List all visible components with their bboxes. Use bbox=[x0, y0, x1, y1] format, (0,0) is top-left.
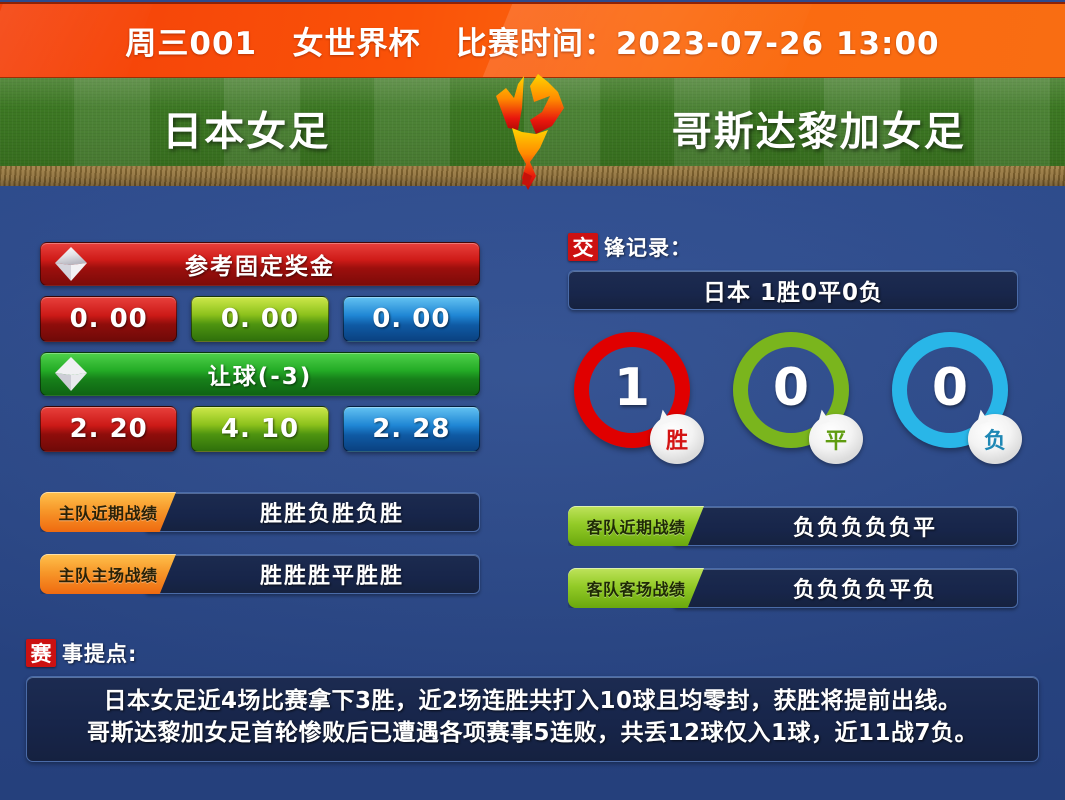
analysis-line-2: 哥斯达黎加女足首轮惨败后已遭遇各项赛事5连败，共丢12球仅入1球，近11战7负。 bbox=[41, 718, 1024, 750]
h2h-ring-win: 1 胜 bbox=[574, 332, 694, 452]
away-away-form-row: 客队客场战绩 负负负负平负 bbox=[568, 568, 1018, 608]
handicap-odds-row: 2. 20 4. 10 2. 28 bbox=[40, 406, 480, 452]
match-preview-card: 周三001 女世界杯 比赛时间：2023-07-26 13:00 日本女足 哥斯… bbox=[0, 0, 1065, 800]
fixed-odd-draw[interactable]: 0. 00 bbox=[191, 296, 328, 342]
h2h-rings: 1 胜 0 平 0 负 bbox=[568, 332, 1018, 452]
analysis-box: 日本女足近4场比赛拿下3胜，近2场连胜共打入10球且均零封，获胜将提前出线。 哥… bbox=[26, 676, 1039, 762]
fixed-odd-home[interactable]: 0. 00 bbox=[40, 296, 177, 342]
analysis-heading: 赛 事提点: bbox=[26, 638, 1039, 668]
away-away-form-value: 负负负负平负 bbox=[672, 568, 1018, 608]
handicap-title: 让球(-3) bbox=[208, 357, 313, 391]
home-home-form-value: 胜胜胜平胜胜 bbox=[144, 554, 480, 594]
loss-badge: 负 bbox=[968, 414, 1022, 464]
away-recent-form-value: 负负负负负平 bbox=[672, 506, 1018, 546]
home-home-form-row: 主队主场战绩 胜胜胜平胜胜 bbox=[40, 554, 480, 594]
h2h-heading-text: 锋记录： bbox=[604, 232, 692, 262]
match-header-band: 周三001 女世界杯 比赛时间：2023-07-26 13:00 bbox=[0, 2, 1065, 78]
analysis-heading-glyph: 赛 bbox=[26, 639, 56, 667]
analysis-line-1: 日本女足近4场比赛拿下3胜，近2场连胜共打入10球且均零封，获胜将提前出线。 bbox=[41, 686, 1024, 718]
vs-icon bbox=[478, 72, 588, 197]
win-badge: 胜 bbox=[650, 414, 704, 464]
away-recent-form-label: 客队近期战绩 bbox=[568, 506, 704, 546]
diamond-icon bbox=[49, 242, 93, 286]
home-recent-form-row: 主队近期战绩 胜胜负胜负胜 bbox=[40, 492, 480, 532]
away-away-form-label: 客队客场战绩 bbox=[568, 568, 704, 608]
match-header-title: 周三001 女世界杯 比赛时间：2023-07-26 13:00 bbox=[0, 4, 1065, 77]
handicap-odd-away[interactable]: 2. 28 bbox=[343, 406, 480, 452]
handicap-odd-home[interactable]: 2. 20 bbox=[40, 406, 177, 452]
handicap-prefix: 让球( bbox=[208, 364, 271, 390]
handicap-suffix: ) bbox=[300, 364, 313, 390]
h2h-heading: 交 锋记录： bbox=[568, 232, 1018, 262]
fixed-odds-title: 参考固定奖金 bbox=[185, 247, 335, 281]
h2h-ring-loss: 0 负 bbox=[892, 332, 1012, 452]
handicap-value: -3 bbox=[270, 364, 300, 390]
analysis-heading-text: 事提点: bbox=[62, 638, 137, 668]
home-recent-form-label: 主队近期战绩 bbox=[40, 492, 176, 532]
fixed-odd-away[interactable]: 0. 00 bbox=[343, 296, 480, 342]
home-home-form-label: 主队主场战绩 bbox=[40, 554, 176, 594]
loss-count: 0 bbox=[932, 362, 968, 414]
draw-badge: 平 bbox=[809, 414, 863, 464]
analysis-panel: 赛 事提点: 日本女足近4场比赛拿下3胜，近2场连胜共打入10球且均零封，获胜将… bbox=[26, 638, 1039, 762]
draw-count: 0 bbox=[773, 362, 809, 414]
h2h-heading-glyph: 交 bbox=[568, 233, 598, 261]
away-team-name: 哥斯达黎加女足 bbox=[533, 99, 1065, 157]
fixed-odds-title-bar: 参考固定奖金 bbox=[40, 242, 480, 286]
board: 参考固定奖金 0. 00 0. 00 0. 00 让球(-3) 2. 2 bbox=[0, 186, 1065, 800]
handicap-title-bar: 让球(-3) bbox=[40, 352, 480, 396]
home-team-name: 日本女足 bbox=[0, 99, 533, 157]
win-count: 1 bbox=[614, 362, 650, 414]
h2h-ring-draw: 0 平 bbox=[733, 332, 853, 452]
odds-panel: 参考固定奖金 0. 00 0. 00 0. 00 让球(-3) 2. 2 bbox=[40, 242, 480, 594]
h2h-summary: 日本 1胜0平0负 bbox=[568, 270, 1018, 310]
diamond-icon bbox=[49, 352, 93, 396]
h2h-panel: 交 锋记录： 日本 1胜0平0负 1 胜 0 平 bbox=[568, 232, 1018, 608]
handicap-odd-draw[interactable]: 4. 10 bbox=[191, 406, 328, 452]
away-recent-form-row: 客队近期战绩 负负负负负平 bbox=[568, 506, 1018, 546]
home-recent-form-value: 胜胜负胜负胜 bbox=[144, 492, 480, 532]
fixed-odds-row: 0. 00 0. 00 0. 00 bbox=[40, 296, 480, 342]
